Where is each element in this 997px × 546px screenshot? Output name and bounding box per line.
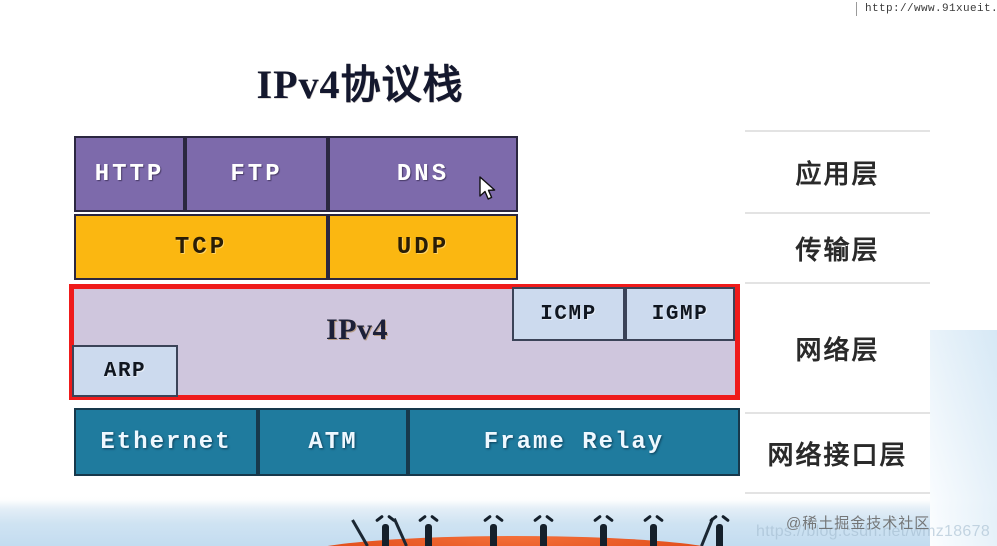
photo-figure (716, 524, 723, 546)
protocol-label: UDP (397, 234, 449, 261)
protocol-label: ARP (104, 360, 146, 383)
protocol-label: Frame Relay (484, 429, 664, 456)
protocol-label: HTTP (95, 161, 165, 188)
protocol-box-frame-relay[interactable]: Frame Relay (408, 408, 740, 476)
photo-figure (425, 524, 432, 546)
protocol-label: IGMP (652, 303, 708, 326)
protocol-box-udp[interactable]: UDP (328, 214, 518, 280)
photo-figure (490, 524, 497, 546)
layer-label-transport: 传输层 (745, 212, 930, 282)
protocol-box-ftp[interactable]: FTP (185, 136, 328, 212)
source-url-watermark: http://www.91xueit.co (856, 2, 997, 16)
protocol-label: DNS (397, 161, 449, 188)
protocol-box-arp[interactable]: ARP (72, 345, 178, 397)
protocol-box-icmp[interactable]: ICMP (512, 287, 625, 341)
protocol-box-igmp[interactable]: IGMP (625, 287, 735, 341)
layer-label-network: 网络层 (745, 282, 930, 412)
layer-label-link: 网络接口层 (745, 412, 930, 494)
protocol-box-tcp[interactable]: TCP (74, 214, 328, 280)
photo-figure (540, 524, 547, 546)
protocol-label: TCP (175, 234, 227, 261)
protocol-box-http[interactable]: HTTP (74, 136, 185, 212)
protocol-label: Ethernet (100, 429, 231, 456)
protocol-label: ATM (308, 429, 357, 456)
protocol-box-atm[interactable]: ATM (258, 408, 408, 476)
protocol-label: ICMP (540, 303, 596, 326)
network-layer-highlight-frame: IPv4 ICMP IGMP ARP (69, 284, 740, 400)
protocol-box-ethernet[interactable]: Ethernet (74, 408, 258, 476)
protocol-label: FTP (230, 161, 282, 188)
photo-figure (650, 524, 657, 546)
page-title: IPv4协议栈 (0, 52, 720, 110)
layer-label-application: 应用层 (745, 130, 930, 212)
protocol-box-dns[interactable]: DNS (328, 136, 518, 212)
photo-figure (600, 524, 607, 546)
screenshot-root: http://www.91xueit.co IPv4协议栈 HTTP FTP D… (0, 0, 997, 546)
layer-label-column: 应用层 传输层 网络层 网络接口层 (745, 130, 930, 494)
photo-pole (700, 518, 714, 546)
photo-figure (382, 524, 389, 546)
background-sky-gradient (930, 330, 997, 546)
brand-watermark: @稀土掘金技术社区 (786, 512, 930, 533)
